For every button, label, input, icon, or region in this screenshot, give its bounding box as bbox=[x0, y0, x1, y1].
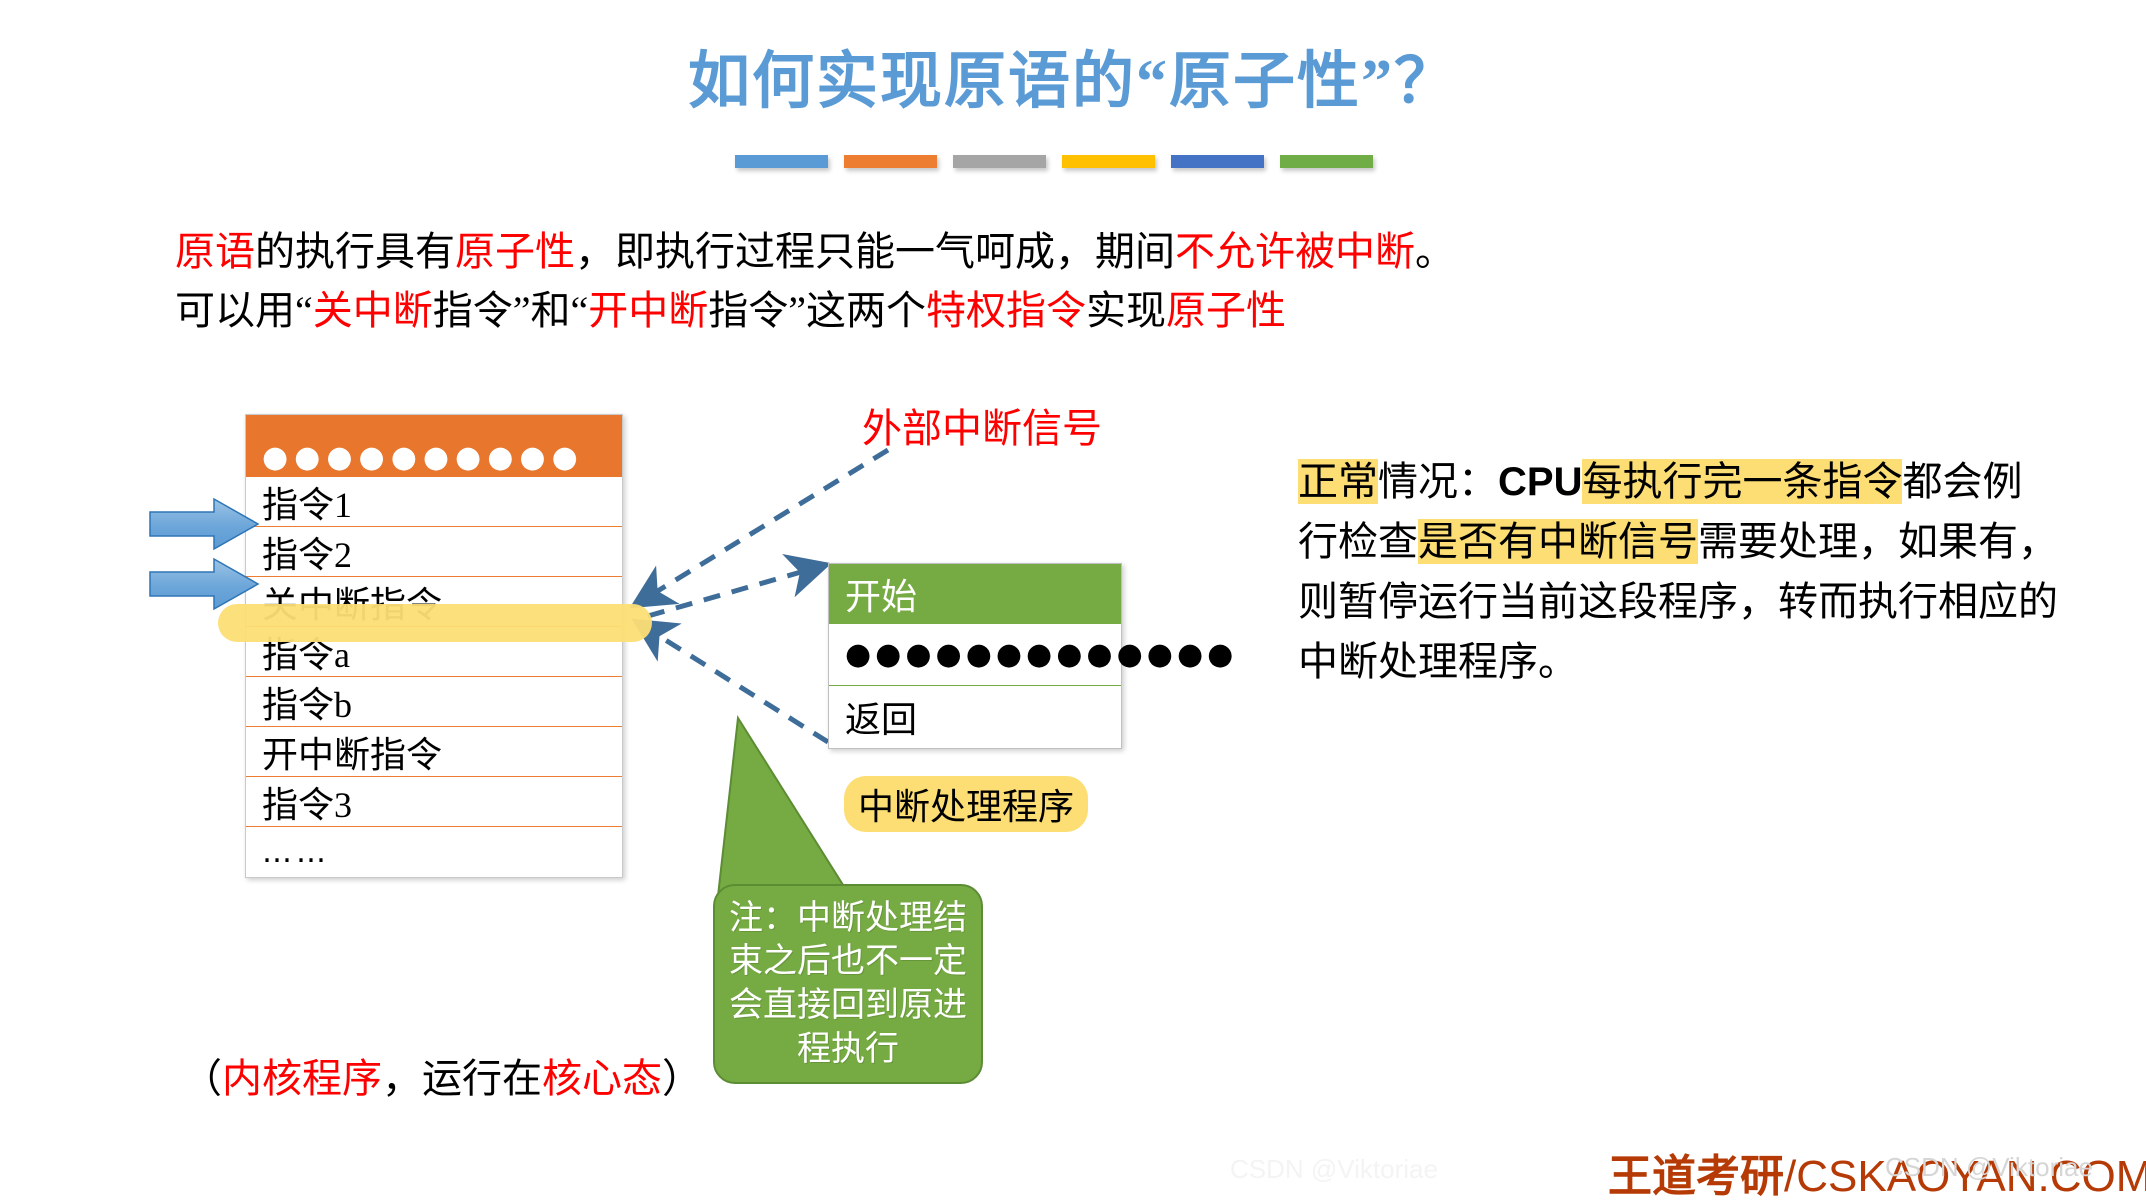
row-label: ●●●●●●●●●●●●● bbox=[845, 637, 1237, 672]
table-row-instr1: 指令1 bbox=[246, 477, 622, 527]
page-title: 如何实现原语的“原子性”？ bbox=[0, 30, 2146, 120]
row-label: 指令b bbox=[262, 676, 352, 728]
lead-term-atomicity: 原子性 bbox=[455, 229, 575, 274]
kernel-instruction-table: ●●●●●●●●●● 指令1 指令2 关中断指令 指令a 指令b 开中断指令 指… bbox=[245, 414, 623, 878]
row-label: 指令3 bbox=[262, 776, 352, 828]
lead-text-5: 指令”和“ bbox=[433, 288, 589, 333]
header-dots: ●●●●●●●●●● bbox=[262, 449, 584, 467]
accent-bar-2 bbox=[844, 155, 937, 168]
lead-term-yuanyu: 原语 bbox=[175, 229, 255, 274]
row-label: 指令1 bbox=[262, 476, 352, 528]
explain-seg-interrupt-signal: 是否有中断信号 bbox=[1418, 519, 1698, 564]
note-callout-text: 注：中断处理结 束之后也不一定 会直接回到原进 程执行 bbox=[729, 897, 967, 1071]
explain-seg-each-instruction: 每执行完一条指令 bbox=[1582, 459, 1902, 504]
table-header-orange: ●●●●●●●●●● bbox=[246, 415, 622, 477]
row-label: 指令2 bbox=[262, 526, 352, 578]
explain-seg-situation: 情况： bbox=[1378, 459, 1498, 504]
kernel-table-caption: （内核程序，运行在核心态） bbox=[182, 1046, 702, 1104]
explanation-paragraph: 正常情况：CPU每执行完一条指令都会例行检查是否有中断信号需要处理，如果有，则暂… bbox=[1298, 452, 2058, 692]
row-label: 开中断指令 bbox=[262, 726, 442, 778]
lead-term-atomicity-2: 原子性 bbox=[1166, 288, 1286, 333]
note-line-2: 束之后也不一定 bbox=[729, 940, 967, 984]
note-line-3: 会直接回到原进 bbox=[729, 984, 967, 1028]
lead-text-2: ，即执行过程只能一气呵成，期间 bbox=[575, 229, 1175, 274]
accent-bar-3 bbox=[953, 155, 1046, 168]
external-interrupt-label: 外部中断信号 bbox=[862, 396, 1102, 454]
lead-term-nointerrupt: 不允许被中断 bbox=[1175, 229, 1415, 274]
caption-close: ） bbox=[662, 1056, 702, 1101]
note-line-4: 程执行 bbox=[729, 1028, 967, 1072]
lead-text-7: 实现 bbox=[1086, 288, 1166, 333]
accent-bar-1 bbox=[735, 155, 828, 168]
footer-watermark: CSDN @Viktoriae bbox=[1885, 1152, 2093, 1183]
table-row-instr2: 指令2 bbox=[246, 527, 622, 577]
pointer-arrow-instr2 bbox=[148, 557, 262, 616]
caption-middle: ，运行在 bbox=[382, 1056, 542, 1101]
caption-open: （ bbox=[182, 1056, 222, 1101]
lead-text-4: 可以用“ bbox=[175, 288, 313, 333]
note-line-1: 注：中断处理结 bbox=[729, 897, 967, 941]
handler-header-start: 开始 bbox=[829, 564, 1121, 624]
lead-line-2: 可以用“关中断指令”和“开中断指令”这两个特权指令实现原子性 bbox=[175, 281, 1875, 340]
handler-row-ellipsis: ●●●●●●●●●●●●● bbox=[829, 624, 1121, 686]
lead-term-privileged: 特权指令 bbox=[926, 288, 1086, 333]
row-label: …… bbox=[262, 835, 330, 870]
pointer-arrow-instr1 bbox=[148, 497, 262, 556]
table-row-ellipsis: …… bbox=[246, 827, 622, 877]
slide-canvas: 如何实现原语的“原子性”？ 原语的执行具有原子性，即执行过程只能一气呵成，期间不… bbox=[0, 0, 2146, 1196]
note-callout-bubble: 注：中断处理结 束之后也不一定 会直接回到原进 程执行 bbox=[713, 884, 983, 1084]
lead-text-1: 的执行具有 bbox=[255, 229, 455, 274]
accent-bar-5 bbox=[1171, 155, 1264, 168]
lead-paragraph: 原语的执行具有原子性，即执行过程只能一气呵成，期间不允许被中断。 可以用“关中断… bbox=[175, 222, 1875, 340]
accent-bar-6 bbox=[1280, 155, 1373, 168]
table-row-instr3: 指令3 bbox=[246, 777, 622, 827]
accent-bar-4 bbox=[1062, 155, 1155, 168]
lead-term-sti: 开中断 bbox=[588, 288, 708, 333]
center-watermark: CSDN @Viktoriae bbox=[1230, 1154, 1438, 1185]
table-row-instrb: 指令b bbox=[246, 677, 622, 727]
explain-seg-normal: 正常 bbox=[1298, 459, 1378, 504]
lead-text-6: 指令”这两个 bbox=[708, 288, 926, 333]
caption-kernel-mode: 核心态 bbox=[542, 1056, 662, 1101]
lead-text-3: 。 bbox=[1415, 229, 1455, 274]
connector-table-to-handler bbox=[648, 566, 822, 616]
lead-term-cli: 关中断 bbox=[313, 288, 433, 333]
interrupt-point-highlight bbox=[218, 604, 652, 642]
table-row-sti: 开中断指令 bbox=[246, 727, 622, 777]
footer-brand-cn: 王道考研 bbox=[1608, 1152, 1784, 1201]
lead-line-1: 原语的执行具有原子性，即执行过程只能一气呵成，期间不允许被中断。 bbox=[175, 222, 1875, 281]
title-accent-bars bbox=[735, 155, 1373, 168]
caption-kernel-program: 内核程序 bbox=[222, 1056, 382, 1101]
explain-seg-cpu: CPU bbox=[1498, 460, 1582, 504]
